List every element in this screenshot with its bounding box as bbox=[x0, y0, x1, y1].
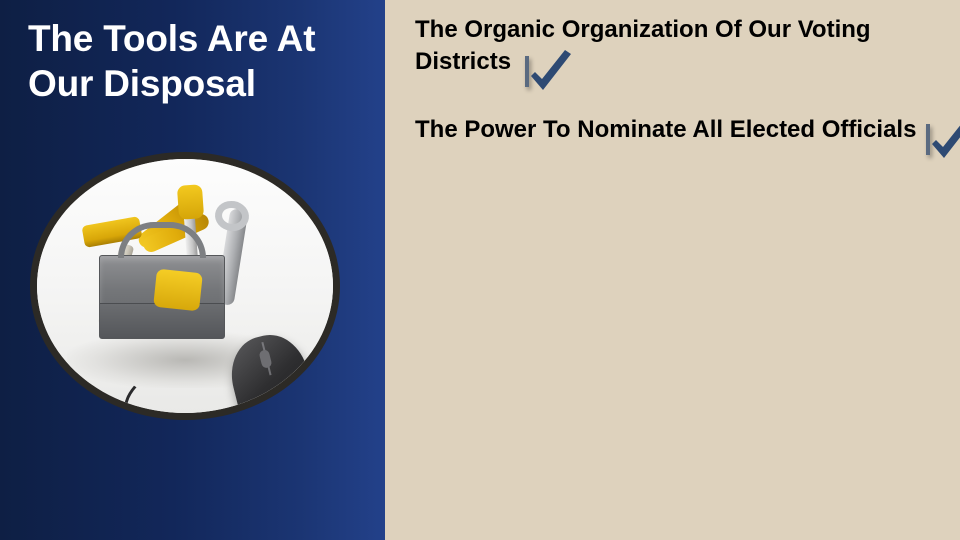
bullet-text: The Organic Organization Of Our Voting D… bbox=[415, 16, 871, 75]
list-item: The Power To Nominate All Elected Offici… bbox=[415, 114, 945, 156]
list-item: The Organic Organization Of Our Voting D… bbox=[415, 14, 945, 88]
page-title: The Tools Are At Our Disposal bbox=[28, 16, 373, 106]
slide: The Tools Are At Our Disposal bbox=[0, 0, 960, 540]
toolbox-front-panel bbox=[100, 303, 224, 338]
checkmark-icon bbox=[525, 56, 529, 88]
checkmark-glyph bbox=[922, 114, 960, 172]
mouse-scroll-wheel bbox=[258, 349, 272, 369]
bullet-list: The Organic Organization Of Our Voting D… bbox=[415, 14, 945, 182]
tape-measure-icon bbox=[153, 269, 203, 312]
checkmark-icon bbox=[926, 124, 930, 156]
checkbox-frame bbox=[926, 124, 930, 155]
bullet-text: The Power To Nominate All Elected Offici… bbox=[415, 116, 916, 143]
checkbox-frame bbox=[525, 56, 529, 87]
right-panel: The Organic Organization Of Our Voting D… bbox=[385, 0, 960, 540]
checkmark-glyph bbox=[521, 46, 579, 104]
photo-image bbox=[37, 159, 333, 413]
left-panel: The Tools Are At Our Disposal bbox=[0, 0, 385, 540]
photo-oval-frame bbox=[30, 152, 340, 420]
screwdriver-icon bbox=[177, 184, 204, 220]
